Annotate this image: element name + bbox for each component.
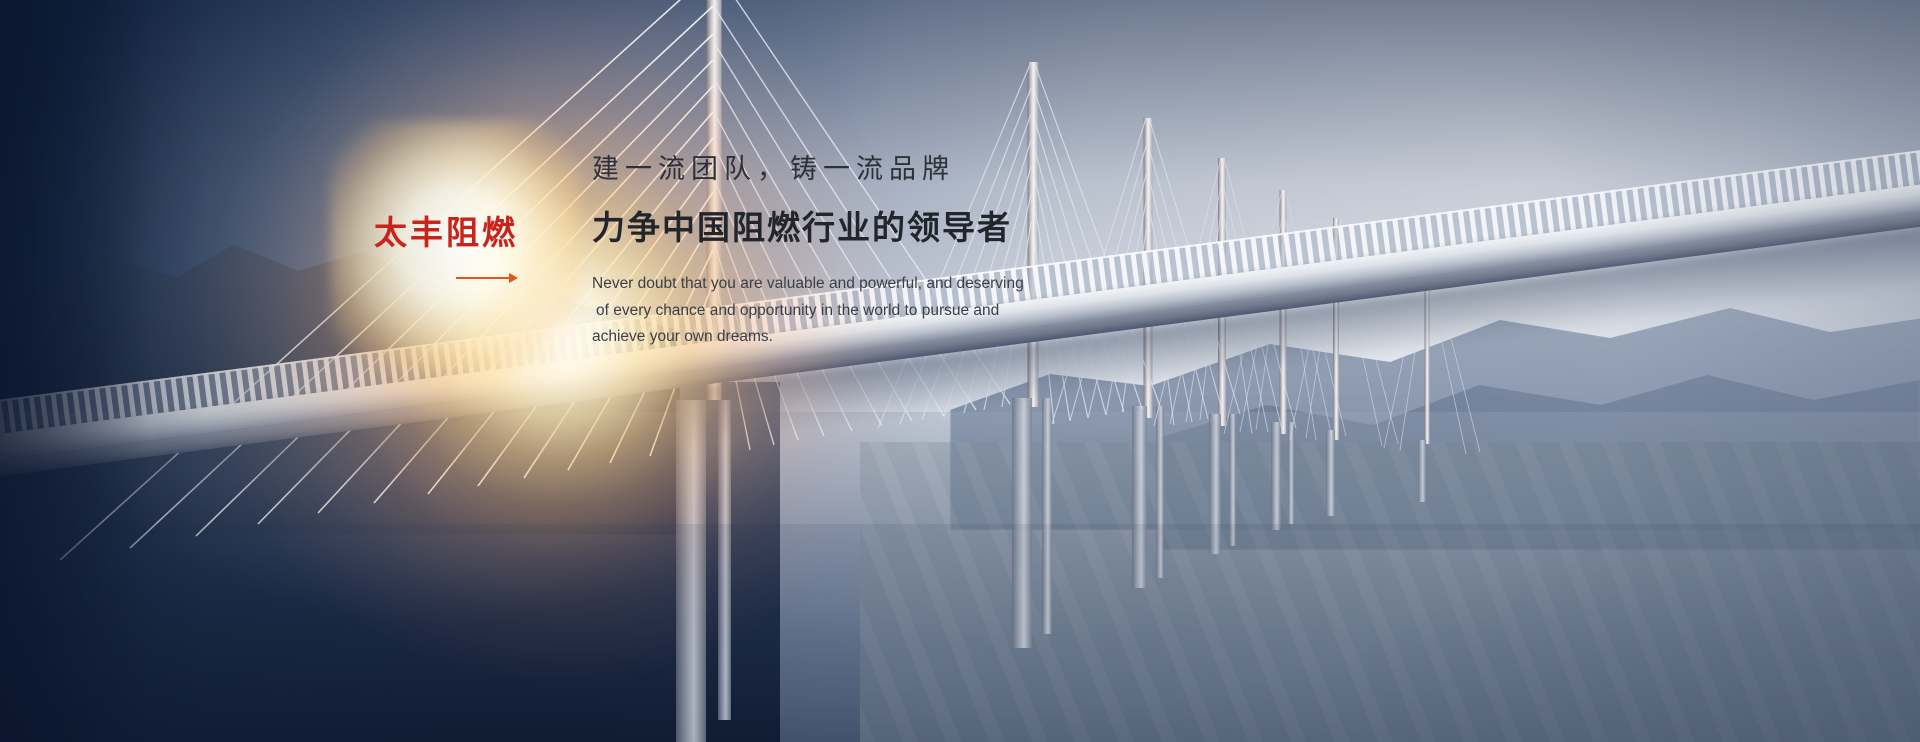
brand-logo[interactable]: 太丰阻燃 bbox=[374, 216, 534, 284]
banner-subtext-line-3: achieve your own dreams. bbox=[592, 324, 1044, 351]
arrow-right-icon bbox=[456, 272, 518, 284]
banner-headline-secondary: 力争中国阻燃行业的领导者 bbox=[592, 211, 1152, 244]
banner-content: 太丰阻燃 建一流团队，铸一流品牌 力争中国阻燃行业的领导者 Never doub… bbox=[0, 0, 1920, 742]
banner-subtext: Never doubt that you are valuable and po… bbox=[592, 271, 1044, 351]
banner-subtext-line-1: Never doubt that you are valuable and po… bbox=[592, 271, 1044, 298]
banner-headline-primary: 建一流团队，铸一流品牌 bbox=[592, 156, 1152, 183]
banner-text-block: 建一流团队，铸一流品牌 力争中国阻燃行业的领导者 Never doubt tha… bbox=[592, 156, 1152, 351]
hero-banner: 太丰阻燃 建一流团队，铸一流品牌 力争中国阻燃行业的领导者 Never doub… bbox=[0, 0, 1920, 742]
brand-logo-text: 太丰阻燃 bbox=[374, 216, 534, 251]
banner-subtext-line-2: of every chance and opportunity in the w… bbox=[592, 298, 1044, 325]
arrow-shaft bbox=[456, 277, 512, 279]
arrow-head bbox=[509, 273, 518, 283]
